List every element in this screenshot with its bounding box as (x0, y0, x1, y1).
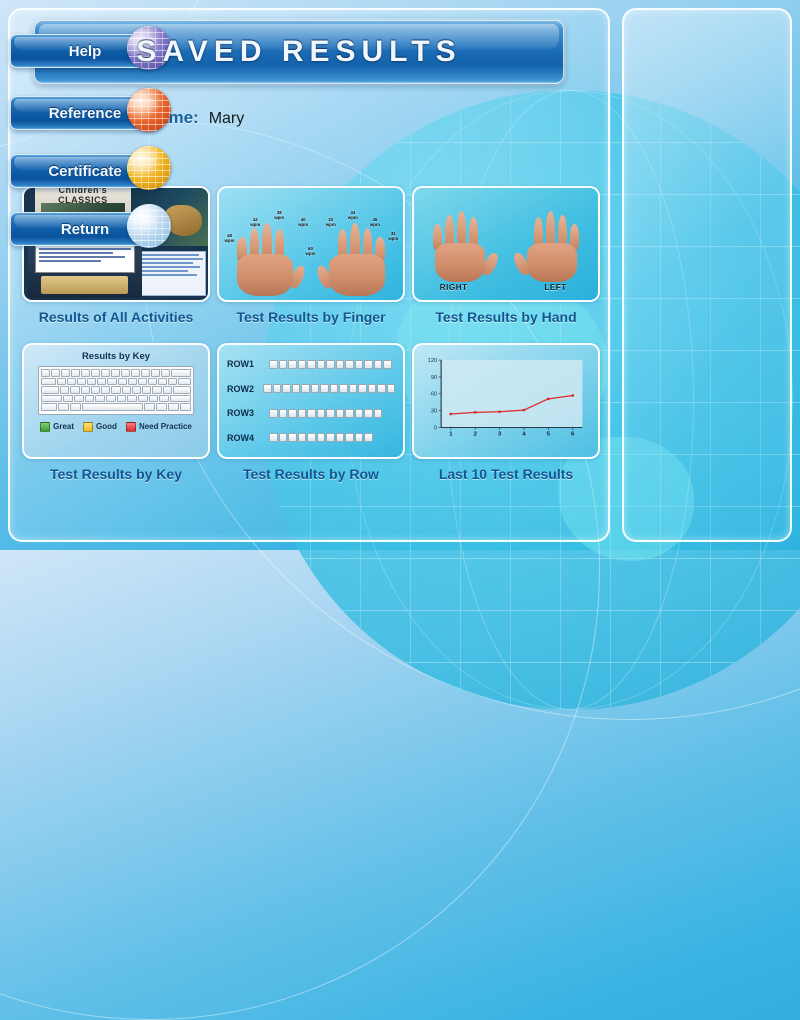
button-label: Help (69, 43, 102, 60)
results-grid-row: Children'sCLASSICS (22, 186, 602, 325)
svg-text:5: 5 (547, 431, 551, 438)
row-line: ROW1 (227, 359, 395, 369)
row-keys (269, 433, 373, 442)
thumbnail-last-10-results[interactable]: 0306090120 123456 (412, 343, 600, 459)
button-label: Reference (49, 105, 122, 122)
panel-caption: Test Results by Row (217, 466, 405, 482)
finger-wpm-left-ring: 42wpm (250, 217, 260, 227)
svg-text:1: 1 (449, 431, 453, 438)
legend-item-good: Good (83, 422, 117, 432)
chart-data-point (523, 409, 526, 411)
finger-wpm-left-pinky: 48wpm (225, 233, 235, 243)
row-line: ROW2 (227, 384, 395, 394)
keyboard-row (41, 386, 191, 394)
keyboard-panel: Results by Key (24, 345, 208, 457)
thumbnail-by-key[interactable]: Results by Key (22, 343, 210, 459)
globe-icon (127, 88, 171, 132)
row-line: ROW3 (227, 408, 395, 418)
chart-data-point (498, 411, 501, 413)
legend-item-great: Great (40, 422, 74, 432)
legend-label: Great (53, 422, 74, 431)
keyboard-row (41, 369, 191, 377)
finger-wpm-left-index: 40wpm (298, 217, 308, 227)
keyboard-title: Results by Key (32, 351, 200, 362)
finger-wpm-thumb: 60wpm (305, 246, 315, 256)
results-grid-row: Results by Key (22, 343, 602, 482)
collage-document (136, 251, 206, 296)
finger-wpm-right-middle: 34wpm (348, 210, 358, 220)
sidebar-panel (622, 8, 792, 542)
svg-text:30: 30 (431, 409, 437, 415)
legend-label: Good (96, 422, 117, 431)
chart-panel: 0306090120 123456 (414, 345, 598, 457)
panel-by-finger[interactable]: 48wpm 42wpm 38wpm 40wpm 60wpm (217, 186, 405, 325)
hand-label-left: LEFT (544, 283, 566, 292)
row-keys (269, 360, 392, 369)
globe-icon (127, 146, 171, 190)
panel-last-10-results[interactable]: 0306090120 123456 Last 10 Test Results (412, 343, 600, 482)
key-legend: Great Good Need Practice (32, 422, 200, 432)
finger-wpm-right-pinky: 31wpm (388, 231, 398, 241)
chart-data-point (571, 394, 574, 396)
row-line: ROW4 (227, 433, 395, 443)
panel-caption: Test Results by Finger (217, 309, 405, 325)
page-title: SAVED RESULTS (136, 35, 461, 69)
certificate-button[interactable]: Certificate (10, 154, 160, 188)
panel-all-activities[interactable]: Children'sCLASSICS (22, 186, 210, 325)
panel-caption: Results of All Activities (22, 309, 210, 325)
chart-data-point (474, 411, 477, 413)
panel-by-hand[interactable]: RIGHT LEFT Test Results by Hand (412, 186, 600, 325)
keyboard-graphic[interactable] (38, 366, 194, 415)
button-label: Return (61, 221, 109, 238)
panel-caption: Last 10 Test Results (412, 466, 600, 482)
row-label: ROW2 (227, 384, 257, 394)
row-label: ROW1 (227, 359, 263, 369)
thumbnail-by-hand[interactable]: RIGHT LEFT (412, 186, 600, 302)
hand-graphic-left-side (519, 206, 585, 282)
svg-text:120: 120 (428, 358, 438, 364)
svg-text:2: 2 (473, 431, 477, 438)
svg-text:90: 90 (431, 375, 437, 381)
rows-panel: ROW1 ROW2 (219, 345, 403, 457)
row-keys (263, 384, 395, 393)
finger-stage: 48wpm 42wpm 38wpm 40wpm 60wpm (219, 188, 403, 300)
legend-swatch-good (83, 422, 93, 432)
svg-text:3: 3 (498, 431, 502, 438)
panel-caption: Test Results by Key (22, 466, 210, 482)
finger-wpm-right-ring: 45wpm (370, 217, 380, 227)
hand-label-right: RIGHT (440, 283, 468, 292)
row-label: ROW3 (227, 408, 263, 418)
svg-text:60: 60 (431, 392, 437, 398)
hand-graphic-left (228, 215, 302, 296)
chart-data-point (547, 398, 550, 400)
finger-wpm-right-index: 32wpm (326, 217, 336, 227)
legend-swatch-great (40, 422, 50, 432)
reference-button[interactable]: Reference (10, 96, 160, 130)
legend-swatch-need-practice (126, 422, 136, 432)
globe-icon (127, 204, 171, 248)
finger-wpm-left-middle: 38wpm (274, 210, 284, 220)
button-label: Certificate (48, 163, 121, 180)
chart-data-point (450, 413, 453, 415)
svg-text:6: 6 (571, 431, 575, 438)
keyboard-row (41, 403, 191, 411)
legend-label: Need Practice (139, 422, 192, 431)
legend-item-need-practice: Need Practice (126, 422, 192, 432)
svg-text:4: 4 (522, 431, 526, 438)
line-chart: 0306090120 123456 (416, 351, 594, 453)
panel-by-key[interactable]: Results by Key (22, 343, 210, 482)
keyboard-row (41, 378, 191, 386)
svg-text:0: 0 (434, 425, 437, 431)
hand-graphic-right-side (427, 206, 493, 282)
thumbnail-by-finger[interactable]: 48wpm 42wpm 38wpm 40wpm 60wpm (217, 186, 405, 302)
row-label: ROW4 (227, 433, 263, 443)
collage-laptop-keys (41, 276, 128, 294)
panel-caption: Test Results by Hand (412, 309, 600, 325)
row-keys (269, 409, 382, 418)
passenger-name-value: Mary (209, 110, 245, 128)
hand-stage: RIGHT LEFT (414, 188, 598, 300)
panel-by-row[interactable]: ROW1 ROW2 (217, 343, 405, 482)
thumbnail-by-row[interactable]: ROW1 ROW2 (217, 343, 405, 459)
return-button[interactable]: Return (10, 212, 160, 246)
keyboard-row (41, 395, 191, 403)
